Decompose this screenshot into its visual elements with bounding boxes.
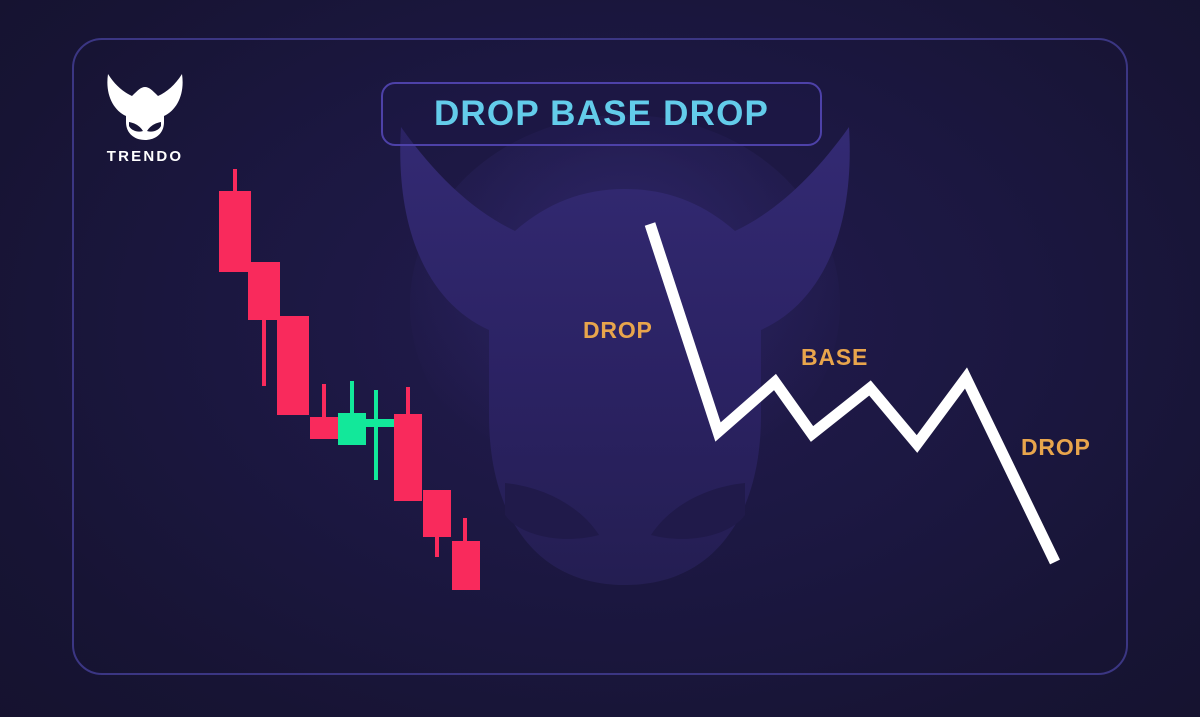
- annotation-base: BASE: [801, 344, 868, 371]
- drop-base-drop-polyline: [650, 224, 1055, 562]
- infographic-canvas: TRENDO DROP BASE DROP: [0, 0, 1200, 717]
- annotation-drop-1: DROP: [583, 317, 653, 344]
- pattern-overlay-line: [0, 0, 1200, 717]
- annotation-drop-2: DROP: [1021, 434, 1091, 461]
